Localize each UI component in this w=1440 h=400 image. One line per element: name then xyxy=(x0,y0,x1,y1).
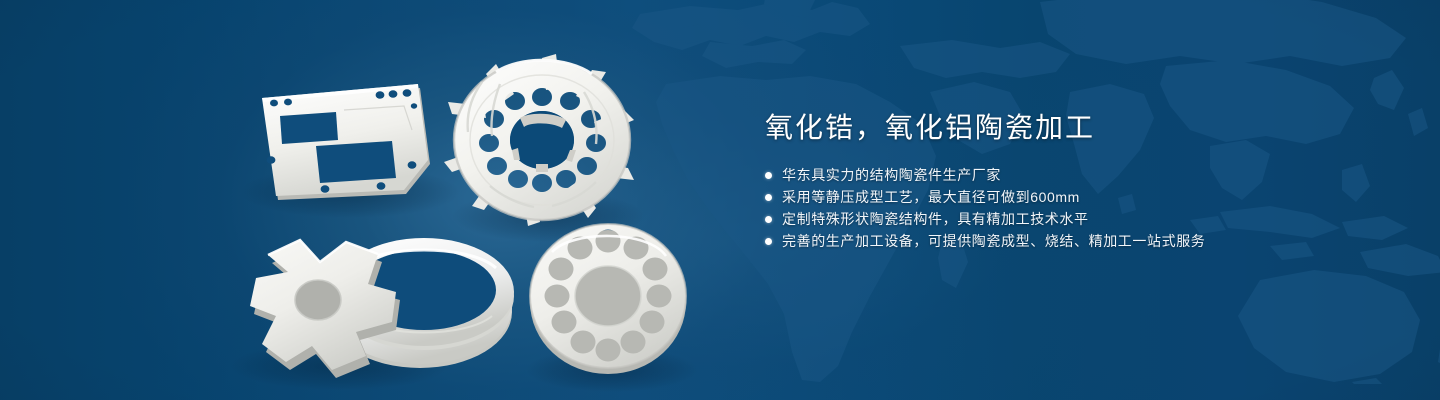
list-item: 完善的生产加工设备，可提供陶瓷成型、烧结、精加工一站式服务 xyxy=(765,230,1405,252)
banner-text-block: 氧化锆，氧化铝陶瓷加工 华东具实力的结构陶瓷件生产厂家 采用等静压成型工艺，最大… xyxy=(765,108,1405,252)
plate-shadow xyxy=(240,166,460,218)
feature-text: 定制特殊形状陶瓷结构件，具有精加工技术水平 xyxy=(782,208,1089,230)
page-title: 氧化锆，氧化铝陶瓷加工 xyxy=(765,108,1405,148)
bullet-dot-icon xyxy=(765,238,772,245)
list-item: 定制特殊形状陶瓷结构件，具有精加工技术水平 xyxy=(765,208,1405,230)
ceramic-machined-plate xyxy=(262,84,430,200)
product-photo-group xyxy=(0,0,740,400)
feature-list: 华东具实力的结构陶瓷件生产厂家 采用等静压成型工艺，最大直径可做到600mm 定… xyxy=(765,164,1405,252)
hero-banner: 氧化锆，氧化铝陶瓷加工 华东具实力的结构陶瓷件生产厂家 采用等静压成型工艺，最大… xyxy=(0,0,1440,400)
feature-text: 完善的生产加工设备，可提供陶瓷成型、烧结、精加工一站式服务 xyxy=(782,230,1205,252)
cross-shadow xyxy=(230,342,450,390)
list-item: 采用等静压成型工艺，最大直径可做到600mm xyxy=(765,186,1405,208)
ceramic-cross-plate xyxy=(240,230,410,380)
impeller-shadow xyxy=(452,190,644,242)
disc-shadow xyxy=(526,348,698,392)
feature-text: 华东具实力的结构陶瓷件生产厂家 xyxy=(782,164,1001,186)
bullet-dot-icon xyxy=(765,216,772,223)
bullet-dot-icon xyxy=(765,194,772,201)
feature-text: 采用等静压成型工艺，最大直径可做到600mm xyxy=(782,186,1080,208)
ceramic-impeller-rotor xyxy=(440,50,650,240)
bullet-dot-icon xyxy=(765,172,772,179)
list-item: 华东具实力的结构陶瓷件生产厂家 xyxy=(765,164,1405,186)
ceramic-perforated-disc xyxy=(520,215,700,385)
ceramic-ring xyxy=(328,238,514,368)
